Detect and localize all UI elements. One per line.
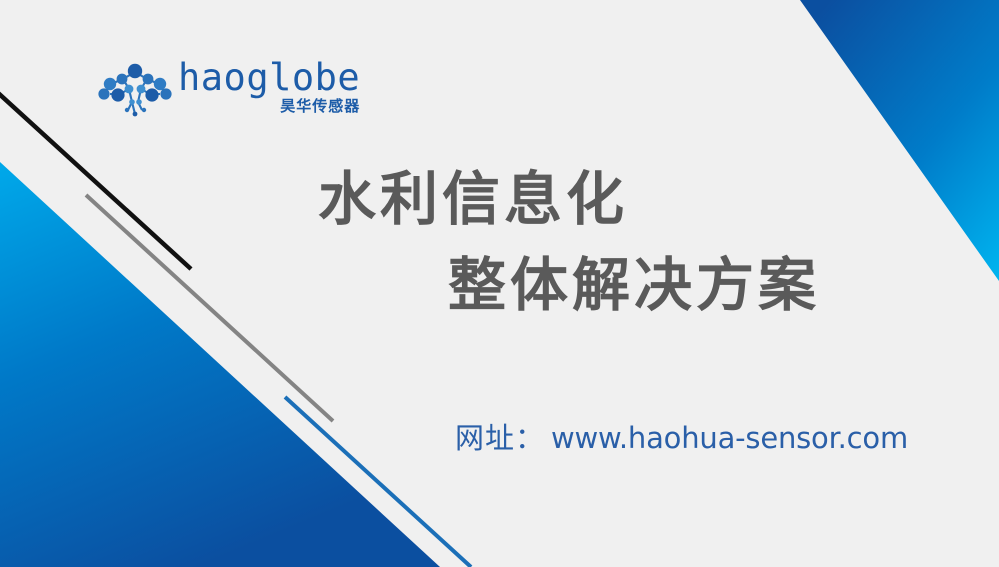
blue-diagonal-line (285, 397, 471, 567)
title-line-1: 水利信息化 (318, 163, 999, 235)
logo-wordmark: haoglobe (178, 58, 360, 98)
website-url[interactable]: www.haohua-sensor.com (551, 419, 908, 457)
network-dots-logo-icon (98, 62, 172, 120)
company-logo: haoglobe 昊华传感器 (98, 58, 360, 120)
title-slide: haoglobe 昊华传感器 水利信息化 整体解决方案 网址： www.haoh… (0, 0, 999, 567)
logo-subtext: 昊华传感器 (280, 97, 360, 115)
slide-title: 水利信息化 整体解决方案 (0, 163, 999, 321)
title-line-2: 整体解决方案 (448, 249, 999, 321)
logo-text-group: haoglobe 昊华传感器 (178, 58, 360, 115)
website-label: 网址： (455, 419, 545, 457)
website-line: 网址： www.haohua-sensor.com (455, 419, 908, 457)
